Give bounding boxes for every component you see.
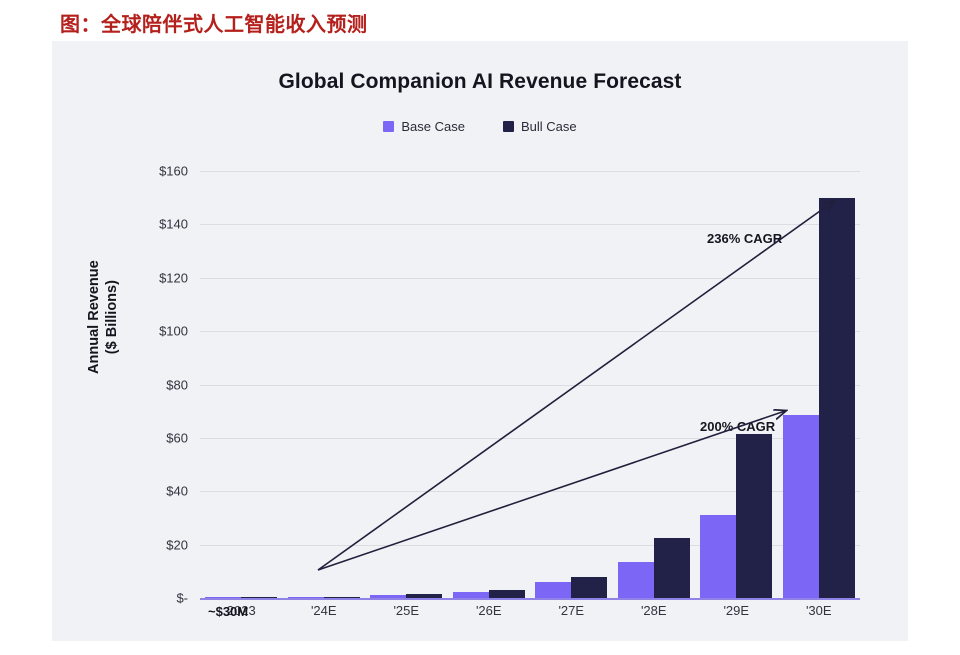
y-axis-title-line1: Annual Revenue xyxy=(85,242,103,392)
bar-base-case[interactable] xyxy=(783,415,819,598)
x-axis-tick-label: '30E xyxy=(778,603,861,618)
bar-base-case[interactable] xyxy=(700,515,736,598)
x-axis-tick-label: '26E xyxy=(448,603,531,618)
bar-base-case[interactable] xyxy=(370,595,406,598)
figure-caption: 图：全球陪伴式人工智能收入预测 xyxy=(60,8,368,37)
y-axis-tick-label: $40 xyxy=(98,484,188,499)
y-axis-tick-label: $120 xyxy=(98,270,188,285)
annotation-base-2023: ~$30M xyxy=(208,604,248,619)
bar-bull-case[interactable] xyxy=(736,434,772,598)
bar-bull-case[interactable] xyxy=(489,590,525,598)
bar-group xyxy=(613,171,696,598)
x-axis-tick-label: '24E xyxy=(283,603,366,618)
bar-bull-case[interactable] xyxy=(406,594,442,598)
annotation-cagr-base: 200% CAGR xyxy=(700,419,775,434)
bar-bull-case[interactable] xyxy=(241,597,277,598)
y-axis-tick-label: $100 xyxy=(98,324,188,339)
bar-group xyxy=(448,171,531,598)
chart-panel: Global Companion AI Revenue Forecast Bas… xyxy=(52,41,908,641)
bar-bull-case[interactable] xyxy=(654,538,690,598)
y-axis-title-line2: ($ Billions) xyxy=(103,242,121,392)
bar-base-case[interactable] xyxy=(618,562,654,598)
bar-group xyxy=(200,171,283,598)
bar-base-case[interactable] xyxy=(205,597,241,598)
x-axis-tick-labels: 2023'24E'25E'26E'27E'28E'29E'30E xyxy=(200,603,860,618)
y-axis-tick-label: $20 xyxy=(98,537,188,552)
bar-base-case[interactable] xyxy=(288,597,324,598)
y-axis-tick-label: $60 xyxy=(98,430,188,445)
annotation-cagr-bull: 236% CAGR xyxy=(707,231,782,246)
y-axis-tick-label: $- xyxy=(98,591,188,606)
x-axis-tick-label: '29E xyxy=(695,603,778,618)
bar-base-case[interactable] xyxy=(453,592,489,598)
x-axis-tick-label: '28E xyxy=(613,603,696,618)
bar-bull-case[interactable] xyxy=(571,577,607,598)
bar-bull-case[interactable] xyxy=(324,597,360,598)
y-axis-tick-label: $160 xyxy=(98,164,188,179)
x-axis-tick-label: '27E xyxy=(530,603,613,618)
plot-wrapper: Annual Revenue ($ Billions) $-$20$40$60$… xyxy=(52,41,908,641)
bar-group xyxy=(365,171,448,598)
bar-group xyxy=(530,171,613,598)
y-axis-tick-label: $80 xyxy=(98,377,188,392)
bar-base-case[interactable] xyxy=(535,582,571,598)
bar-bull-case[interactable] xyxy=(819,198,855,598)
bar-group xyxy=(778,171,861,598)
y-axis-tick-label: $140 xyxy=(98,217,188,232)
gridline xyxy=(200,598,860,600)
x-axis-tick-label: '25E xyxy=(365,603,448,618)
y-axis-title: Annual Revenue ($ Billions) xyxy=(85,242,121,392)
bar-group xyxy=(283,171,366,598)
